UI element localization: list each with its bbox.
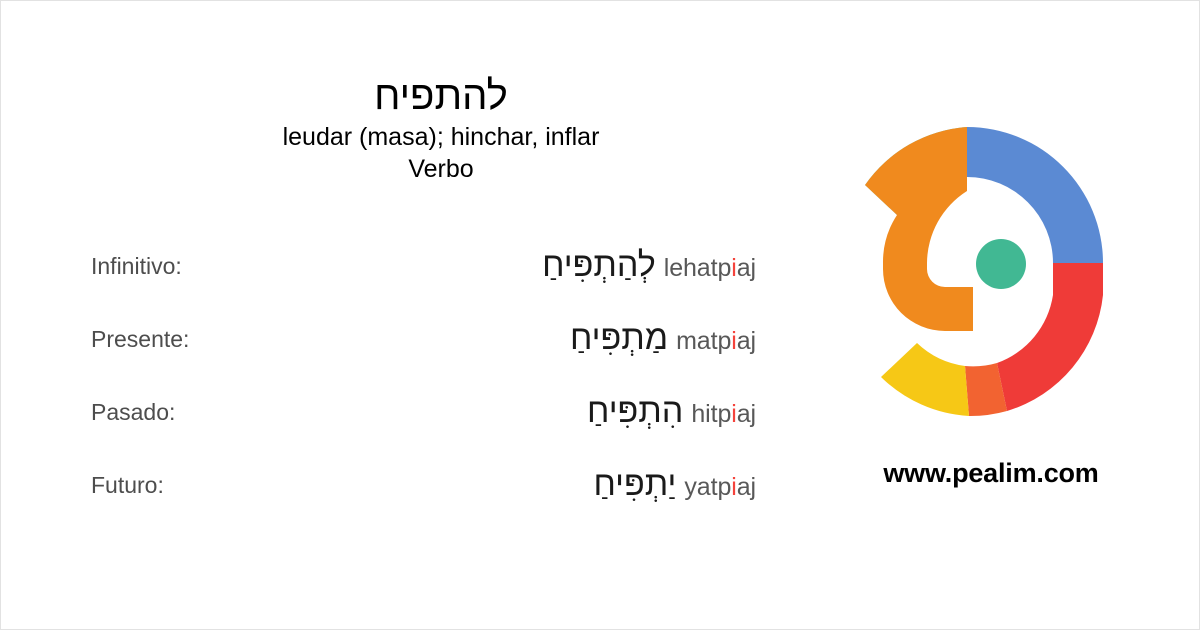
row-transliteration-futuro: yatpiaj	[684, 471, 756, 503]
row-transliteration-pasado: hitpiaj	[691, 398, 756, 430]
row-hebrew-infinitivo: לְהַתְפִּיחַ	[542, 241, 656, 289]
row-hebrew-presente: מַתְפִּיחַ	[570, 314, 668, 362]
logo-arc-orange	[865, 127, 973, 331]
table-row: Futuro: יַתְפִּיחַ yatpiaj	[1, 458, 791, 531]
row-forms: הִתְפִּיחַ hitpiaj	[587, 387, 756, 435]
translit-post: aj	[737, 327, 756, 355]
row-forms: יַתְפִּיחַ yatpiaj	[593, 460, 756, 508]
row-label-futuro: Futuro:	[91, 470, 164, 500]
pealim-logo	[857, 119, 1137, 419]
translit-post: aj	[737, 473, 756, 501]
table-row: Presente: מַתְפִּיחַ matpiaj	[1, 312, 791, 385]
translit-pre: matp	[676, 327, 731, 355]
site-url[interactable]: www.pealim.com	[841, 456, 1141, 490]
headword-hebrew: להתפיח	[1, 73, 881, 119]
row-hebrew-futuro: יַתְפִּיחַ	[593, 460, 676, 508]
translit-post: aj	[737, 400, 756, 428]
translit-pre: lehatp	[664, 254, 732, 282]
row-forms: מַתְפִּיחַ matpiaj	[570, 314, 756, 362]
table-row: Pasado: הִתְפִּיחַ hitpiaj	[1, 385, 791, 458]
translit-post: aj	[737, 254, 756, 282]
card-header: להתפיח leudar (masa); hinchar, inflar Ve…	[1, 73, 881, 185]
row-label-presente: Presente:	[91, 324, 189, 354]
row-label-pasado: Pasado:	[91, 397, 175, 427]
pealim-logo-icon	[857, 119, 1137, 419]
row-transliteration-infinitivo: lehatpiaj	[664, 252, 756, 284]
logo-dot-green	[976, 239, 1026, 289]
part-of-speech: Verbo	[1, 154, 881, 185]
conjugation-table: Infinitivo: לְהַתְפִּיחַ lehatpiaj Prese…	[1, 239, 791, 531]
verb-card: להתפיח leudar (masa); hinchar, inflar Ve…	[0, 0, 1200, 630]
translit-pre: yatp	[684, 473, 731, 501]
row-transliteration-presente: matpiaj	[676, 325, 756, 357]
headword-translation: leudar (masa); hinchar, inflar	[1, 121, 881, 154]
row-label-infinitivo: Infinitivo:	[91, 251, 182, 281]
logo-arc-yellow	[881, 343, 969, 416]
table-row: Infinitivo: לְהַתְפִּיחַ lehatpiaj	[1, 239, 791, 312]
row-forms: לְהַתְפִּיחַ lehatpiaj	[542, 241, 756, 289]
row-hebrew-pasado: הִתְפִּיחַ	[587, 387, 683, 435]
translit-pre: hitp	[691, 400, 731, 428]
